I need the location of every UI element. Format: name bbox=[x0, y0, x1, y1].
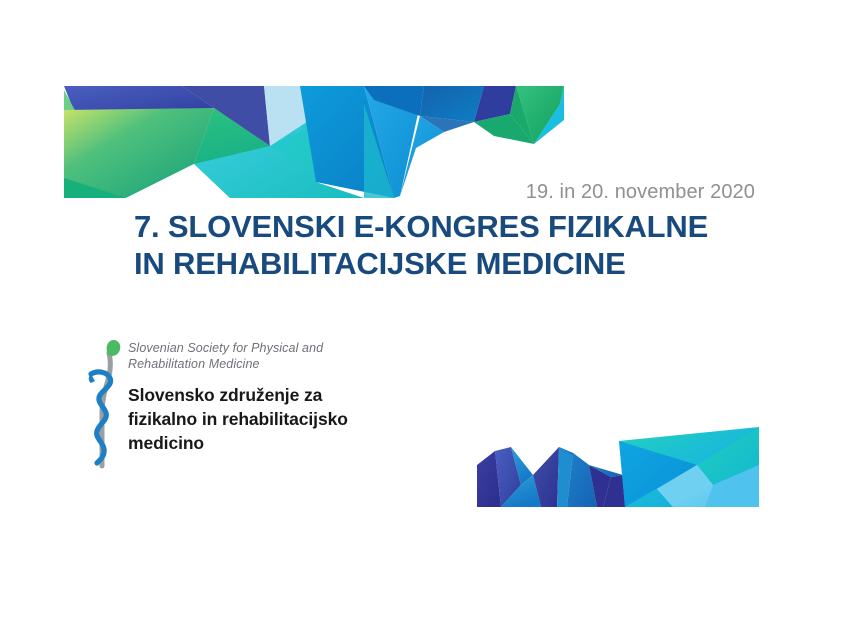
society-name-slovenian: Slovensko združenje za fizikalno in reha… bbox=[128, 383, 410, 455]
asclepius-staff-svg bbox=[82, 336, 128, 472]
page-title: 7. SLOVENSKI E-KONGRES FIZIKALNE IN REHA… bbox=[134, 208, 794, 282]
page-title-line-1: 7. SLOVENSKI E-KONGRES FIZIKALNE bbox=[134, 208, 794, 245]
society-logo-text: Slovenian Society for Physical and Rehab… bbox=[128, 340, 410, 455]
society-name-slovenian-line-1: Slovensko združenje za bbox=[128, 383, 410, 407]
society-name-english: Slovenian Society for Physical and Rehab… bbox=[128, 340, 410, 372]
society-name-english-line-1: Slovenian Society for Physical and bbox=[128, 340, 410, 356]
page-title-line-2: IN REHABILITACIJSKE MEDICINE bbox=[134, 245, 794, 282]
society-name-slovenian-line-2: fizikalno in rehabilitacijsko bbox=[128, 407, 410, 431]
event-date: 19. in 20. november 2020 bbox=[526, 180, 755, 204]
top-decoration-svg bbox=[64, 86, 564, 198]
asclepius-staff-icon bbox=[82, 336, 128, 472]
society-name-slovenian-line-3: medicino bbox=[128, 431, 410, 455]
society-name-english-line-2: Rehabilitation Medicine bbox=[128, 356, 410, 372]
society-logo: Slovenian Society for Physical and Rehab… bbox=[82, 336, 412, 476]
low-poly-triangles-banner-bottom bbox=[477, 419, 759, 509]
bottom-decoration-svg bbox=[477, 419, 759, 509]
conference-title-slide: 19. in 20. november 2020 7. SLOVENSKI E-… bbox=[0, 0, 863, 617]
low-poly-triangles-banner-top bbox=[64, 86, 564, 198]
